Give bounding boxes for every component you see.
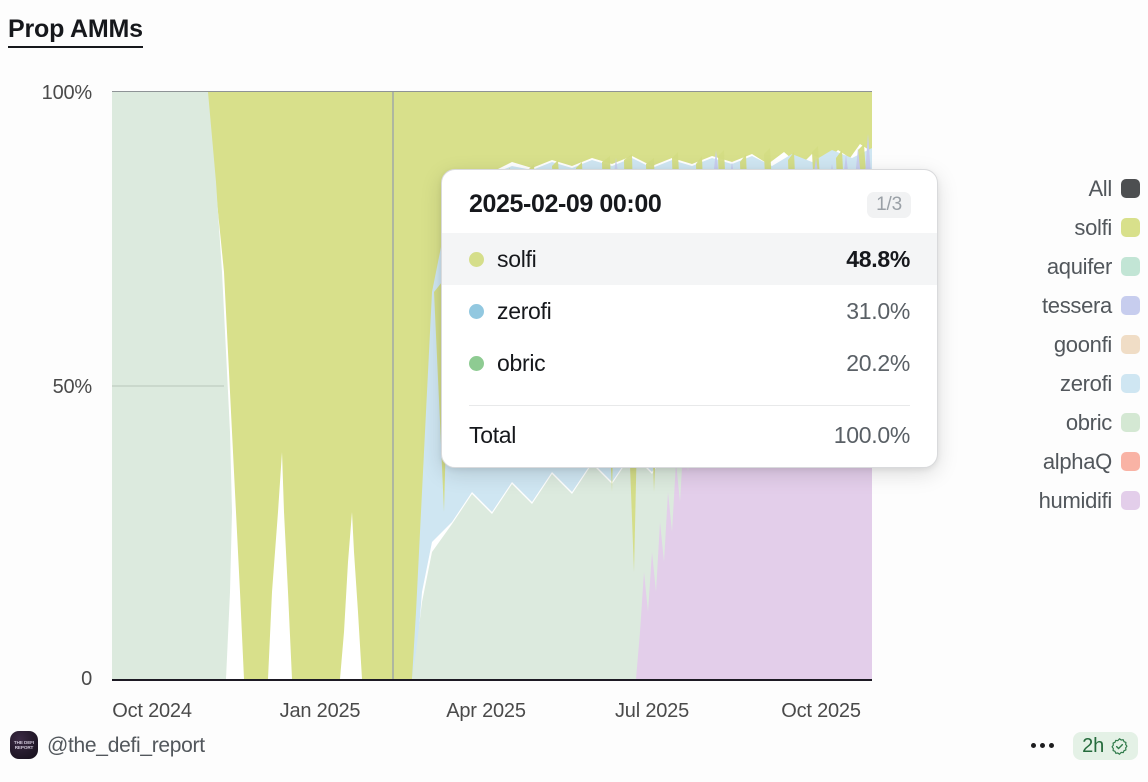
tooltip-total-row: Total 100.0%	[442, 416, 937, 449]
legend-item-tessera[interactable]: tessera	[1042, 289, 1140, 322]
legend-swatch-icon	[1121, 179, 1140, 198]
tooltip-row-obric: obric 20.2%	[442, 337, 937, 389]
axis-bottom-line	[112, 679, 872, 681]
legend-label: alphaQ	[1043, 449, 1112, 475]
series-dot-icon	[469, 252, 484, 267]
legend-swatch-icon	[1121, 413, 1140, 432]
legend-swatch-icon	[1121, 296, 1140, 315]
legend-label: solfi	[1074, 215, 1112, 241]
legend-swatch-icon	[1121, 257, 1140, 276]
y-axis-tick-0: 0	[2, 668, 92, 691]
legend-item-obric[interactable]: obric	[1066, 406, 1140, 439]
legend-label: zerofi	[1060, 371, 1112, 397]
legend-label: tessera	[1042, 293, 1112, 319]
series-dot-icon	[469, 304, 484, 319]
chart-card: Prop AMMs 100% 50% 0	[0, 0, 1148, 782]
legend-swatch-icon	[1121, 491, 1140, 510]
timestamp-badge[interactable]: 2h	[1073, 732, 1138, 760]
tooltip-page-badge: 1/3	[867, 192, 911, 218]
more-options-icon[interactable]	[1031, 743, 1054, 748]
chart-legend: All solfi aquifer tessera goonfi zerofi …	[990, 172, 1140, 517]
tooltip-series-value: 48.8%	[846, 246, 910, 273]
legend-label: goonfi	[1054, 332, 1112, 358]
legend-label: humidifi	[1039, 488, 1112, 514]
x-axis-tick-1: Jan 2025	[280, 700, 361, 723]
x-axis-tick-3: Jul 2025	[615, 700, 689, 723]
legend-item-aquifer[interactable]: aquifer	[1047, 250, 1140, 283]
x-axis-tick-4: Oct 2025	[781, 700, 861, 723]
tooltip-row-zerofi: zerofi 31.0%	[442, 285, 937, 337]
footer-bar: THE DEFI REPORT @the_defi_report 2h	[0, 726, 1148, 782]
legend-item-solfi[interactable]: solfi	[1074, 211, 1140, 244]
tooltip-row-solfi: solfi 48.8%	[442, 233, 937, 285]
legend-item-humidifi[interactable]: humidifi	[1039, 484, 1140, 517]
legend-swatch-icon	[1121, 335, 1140, 354]
tooltip-series-name: zerofi	[497, 298, 551, 325]
legend-item-all[interactable]: All	[1088, 172, 1140, 205]
tooltip-series-name: solfi	[497, 246, 536, 273]
avatar-label: THE DEFI REPORT	[10, 740, 38, 751]
legend-swatch-icon	[1121, 452, 1140, 471]
x-axis-tick-0: Oct 2024	[112, 700, 192, 723]
tooltip-header: 2025-02-09 00:00 1/3	[442, 170, 937, 233]
y-axis-tick-50: 50%	[2, 376, 92, 399]
x-axis-tick-2: Apr 2025	[446, 700, 526, 723]
tooltip-series-name: obric	[497, 350, 545, 377]
legend-label: All	[1088, 176, 1112, 202]
tooltip-total-label: Total	[469, 422, 516, 449]
tooltip-date: 2025-02-09 00:00	[469, 190, 661, 219]
tooltip-series-value: 20.2%	[846, 350, 910, 377]
legend-label: aquifer	[1047, 254, 1112, 280]
legend-swatch-icon	[1121, 374, 1140, 393]
tooltip-divider	[469, 405, 910, 406]
avatar[interactable]: THE DEFI REPORT	[10, 731, 38, 759]
tooltip-total-value: 100.0%	[834, 422, 910, 449]
tooltip-series-value: 31.0%	[846, 298, 910, 325]
account-handle[interactable]: @the_defi_report	[47, 734, 205, 758]
legend-label: obric	[1066, 410, 1112, 436]
chart-tooltip: 2025-02-09 00:00 1/3 solfi 48.8% zerofi …	[441, 169, 938, 468]
legend-swatch-icon	[1121, 218, 1140, 237]
legend-item-goonfi[interactable]: goonfi	[1054, 328, 1140, 361]
timestamp-label: 2h	[1082, 735, 1104, 758]
legend-item-zerofi[interactable]: zerofi	[1060, 367, 1140, 400]
series-dot-icon	[469, 356, 484, 371]
page-title: Prop AMMs	[8, 16, 143, 48]
verified-badge-icon	[1110, 737, 1129, 756]
y-axis-tick-100: 100%	[2, 82, 92, 105]
legend-item-alphaq[interactable]: alphaQ	[1043, 445, 1140, 478]
